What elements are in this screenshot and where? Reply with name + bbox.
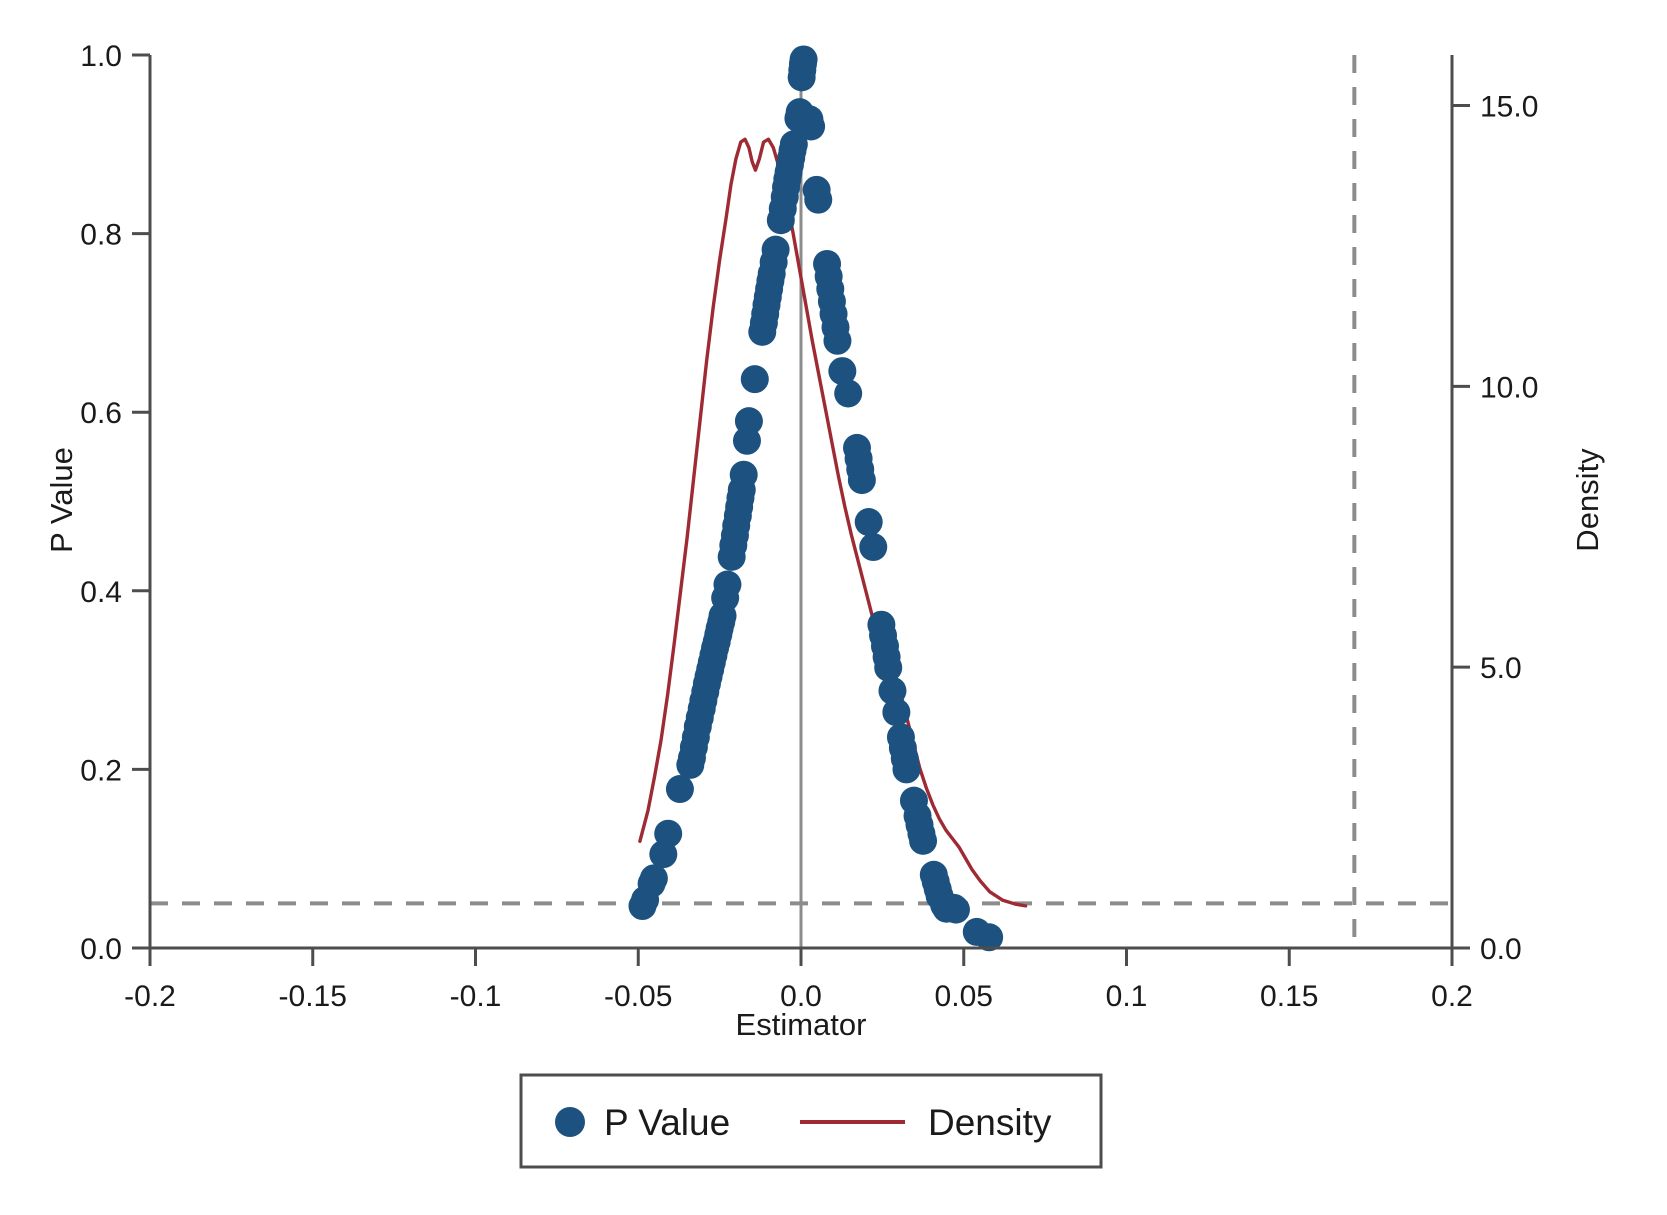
scatter-point <box>892 755 920 783</box>
y-axis-left: 0.00.20.40.60.81.0 P Value <box>44 40 150 966</box>
scatter-point <box>741 365 769 393</box>
y-tick-label-left: 0.8 <box>80 219 122 252</box>
scatter-point <box>855 508 883 536</box>
y-axis-right-ticks: 0.05.010.015.0 <box>1452 91 1538 966</box>
y-tick-label-right: 15.0 <box>1480 91 1538 124</box>
x-tick-label: 0.15 <box>1260 980 1318 1013</box>
y-tick-label-right: 5.0 <box>1480 652 1522 685</box>
scatter-point <box>834 379 862 407</box>
x-tick-label: -0.05 <box>604 980 672 1013</box>
x-tick-label: -0.1 <box>450 980 502 1013</box>
chart-legend: P Value Density <box>521 1075 1101 1167</box>
legend-density-label: Density <box>928 1102 1052 1143</box>
scatter-point <box>735 407 763 435</box>
x-tick-label: 0.2 <box>1431 980 1473 1013</box>
scatter-point <box>859 533 887 561</box>
x-axis: -0.2-0.15-0.1-0.050.00.050.10.150.2 Esti… <box>124 948 1473 1042</box>
chart-svg: 0.00.20.40.60.81.0 P Value 0.05.010.015.… <box>0 0 1667 1215</box>
scatter-point <box>874 654 902 682</box>
y-tick-label-right: 10.0 <box>1480 371 1538 404</box>
y-tick-label-left: 0.2 <box>80 754 122 787</box>
x-tick-label: 0.05 <box>935 980 993 1013</box>
y-tick-label-left: 0.6 <box>80 397 122 430</box>
x-axis-title: Estimator <box>736 1007 867 1042</box>
pvalue-points-group <box>628 45 1003 951</box>
x-axis-ticks: -0.2-0.15-0.1-0.050.00.050.10.150.2 <box>124 948 1473 1013</box>
x-tick-label: -0.15 <box>279 980 347 1013</box>
y-tick-label-left: 1.0 <box>80 40 122 73</box>
scatter-point <box>804 186 832 214</box>
scatter-point <box>640 864 668 892</box>
y-axis-left-title: P Value <box>44 447 79 553</box>
y-tick-label-left: 0.4 <box>80 576 122 609</box>
y-axis-right-title: Density <box>1570 448 1605 552</box>
x-tick-label: 0.1 <box>1106 980 1148 1013</box>
scatter-point <box>730 461 758 489</box>
scatter-point <box>848 466 876 494</box>
y-axis-right: 0.05.010.015.0 Density <box>1452 55 1605 966</box>
y-tick-label-left: 0.0 <box>80 933 122 966</box>
scatter-point <box>713 571 741 599</box>
scatter-point <box>654 820 682 848</box>
scatter-point <box>790 45 818 73</box>
scatter-point <box>909 827 937 855</box>
scatter-point <box>797 112 825 140</box>
x-tick-label: -0.2 <box>124 980 176 1013</box>
legend-pvalue-marker <box>555 1107 585 1137</box>
y-axis-left-ticks: 0.00.20.40.60.81.0 <box>80 40 150 966</box>
reference-lines-group <box>150 55 1452 948</box>
scatter-point <box>823 327 851 355</box>
scatter-point <box>666 775 694 803</box>
y-tick-label-right: 0.0 <box>1480 933 1522 966</box>
scatter-point <box>882 698 910 726</box>
scatter-point <box>762 236 790 264</box>
legend-pvalue-label: P Value <box>604 1102 730 1143</box>
figure-container: 0.00.20.40.60.81.0 P Value 0.05.010.015.… <box>0 0 1667 1215</box>
scatter-point <box>942 896 970 924</box>
